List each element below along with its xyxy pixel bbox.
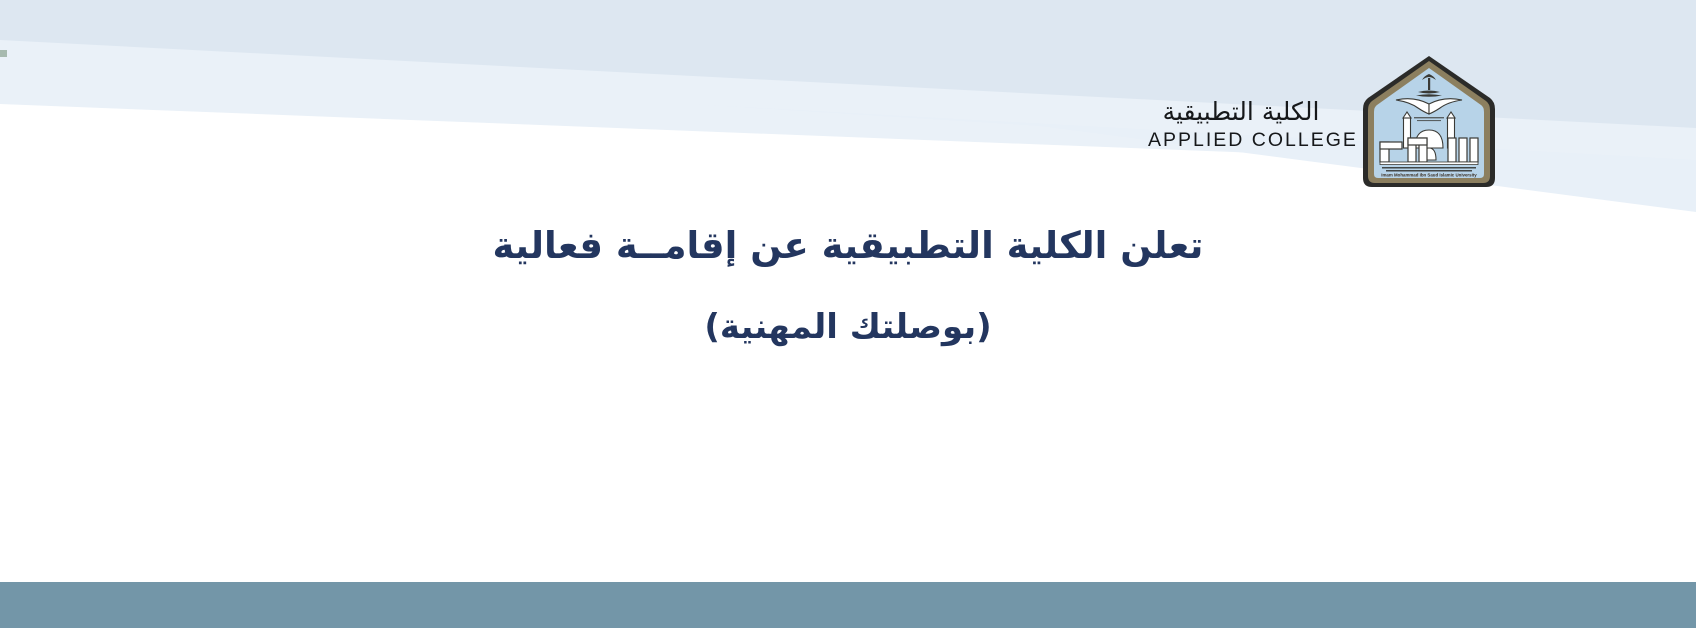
logo-english-name: APPLIED COLLEGE (1148, 129, 1334, 152)
headline-line-1: تعلن الكلية التطبيقية عن إقامــة فعالية (0, 216, 1696, 276)
edge-artifact-fleck (0, 50, 7, 57)
footer-bar (0, 582, 1696, 628)
headline-line-2: (بوصلتك المهنية) (0, 298, 1696, 356)
logo-arabic-name: الكلية التطبيقية (1148, 98, 1334, 126)
logo-lockup: الكلية التطبيقية APPLIED COLLEGE (1148, 52, 1648, 197)
logo-wordmark: الكلية التطبيقية APPLIED COLLEGE (1148, 52, 1334, 152)
headline-block: تعلن الكلية التطبيقية عن إقامــة فعالية … (0, 216, 1696, 356)
announcement-poster: الكلية التطبيقية APPLIED COLLEGE (0, 0, 1696, 634)
emblem-university-english: Imam Mohammad Ibn Saud Islamic Universit… (1381, 173, 1477, 178)
footer-bottom-edge (0, 628, 1696, 634)
emblem-baseline (1380, 162, 1478, 165)
imam-university-emblem-icon: Imam Mohammad Ibn Saud Islamic Universit… (1356, 52, 1502, 196)
